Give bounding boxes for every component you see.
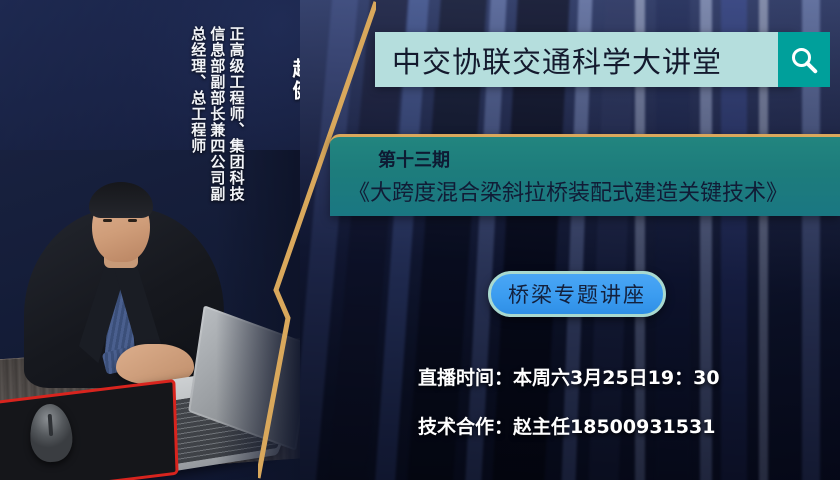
topic-category-pill[interactable]: 桥梁专题讲座	[488, 271, 666, 317]
speaker-title-col-2: 信息部副部长兼四公司副	[208, 26, 224, 296]
photo-edge-fade	[0, 150, 300, 480]
webinar-poster: 正高级工程师、集团科技 信息部副部长兼四公司副 总经理、总工程师 赵健	[0, 0, 840, 480]
pill-label: 桥梁专题讲座	[508, 279, 646, 309]
speaker-title-col-3: 总经理、总工程师	[189, 26, 205, 296]
brand-title-banner: 中交协联交通科学大讲堂	[375, 32, 795, 87]
page-title: 中交协联交通科学大讲堂	[375, 39, 722, 81]
speaker-photo	[0, 150, 300, 480]
speaker-title-col-1: 正高级工程师、集团科技	[227, 26, 243, 296]
topic-title: 《大跨度混合梁斜拉桥装配式建造关键技术》	[348, 175, 840, 207]
search-icon	[789, 45, 819, 75]
info-block: 直播时间：本周六3月25日19：30 技术合作：赵主任18500931531	[418, 363, 838, 461]
speaker-title-block: 正高级工程师、集团科技 信息部副部长兼四公司副 总经理、总工程师	[186, 26, 244, 296]
subtitle-banner: 第十三期 《大跨度混合梁斜拉桥装配式建造关键技术》	[330, 134, 840, 216]
search-icon-box[interactable]	[778, 32, 830, 87]
contact-line: 技术合作：赵主任18500931531	[418, 412, 838, 439]
live-time-line: 直播时间：本周六3月25日19：30	[418, 363, 838, 390]
episode-label: 第十三期	[378, 146, 840, 172]
gold-divider	[258, 0, 376, 480]
